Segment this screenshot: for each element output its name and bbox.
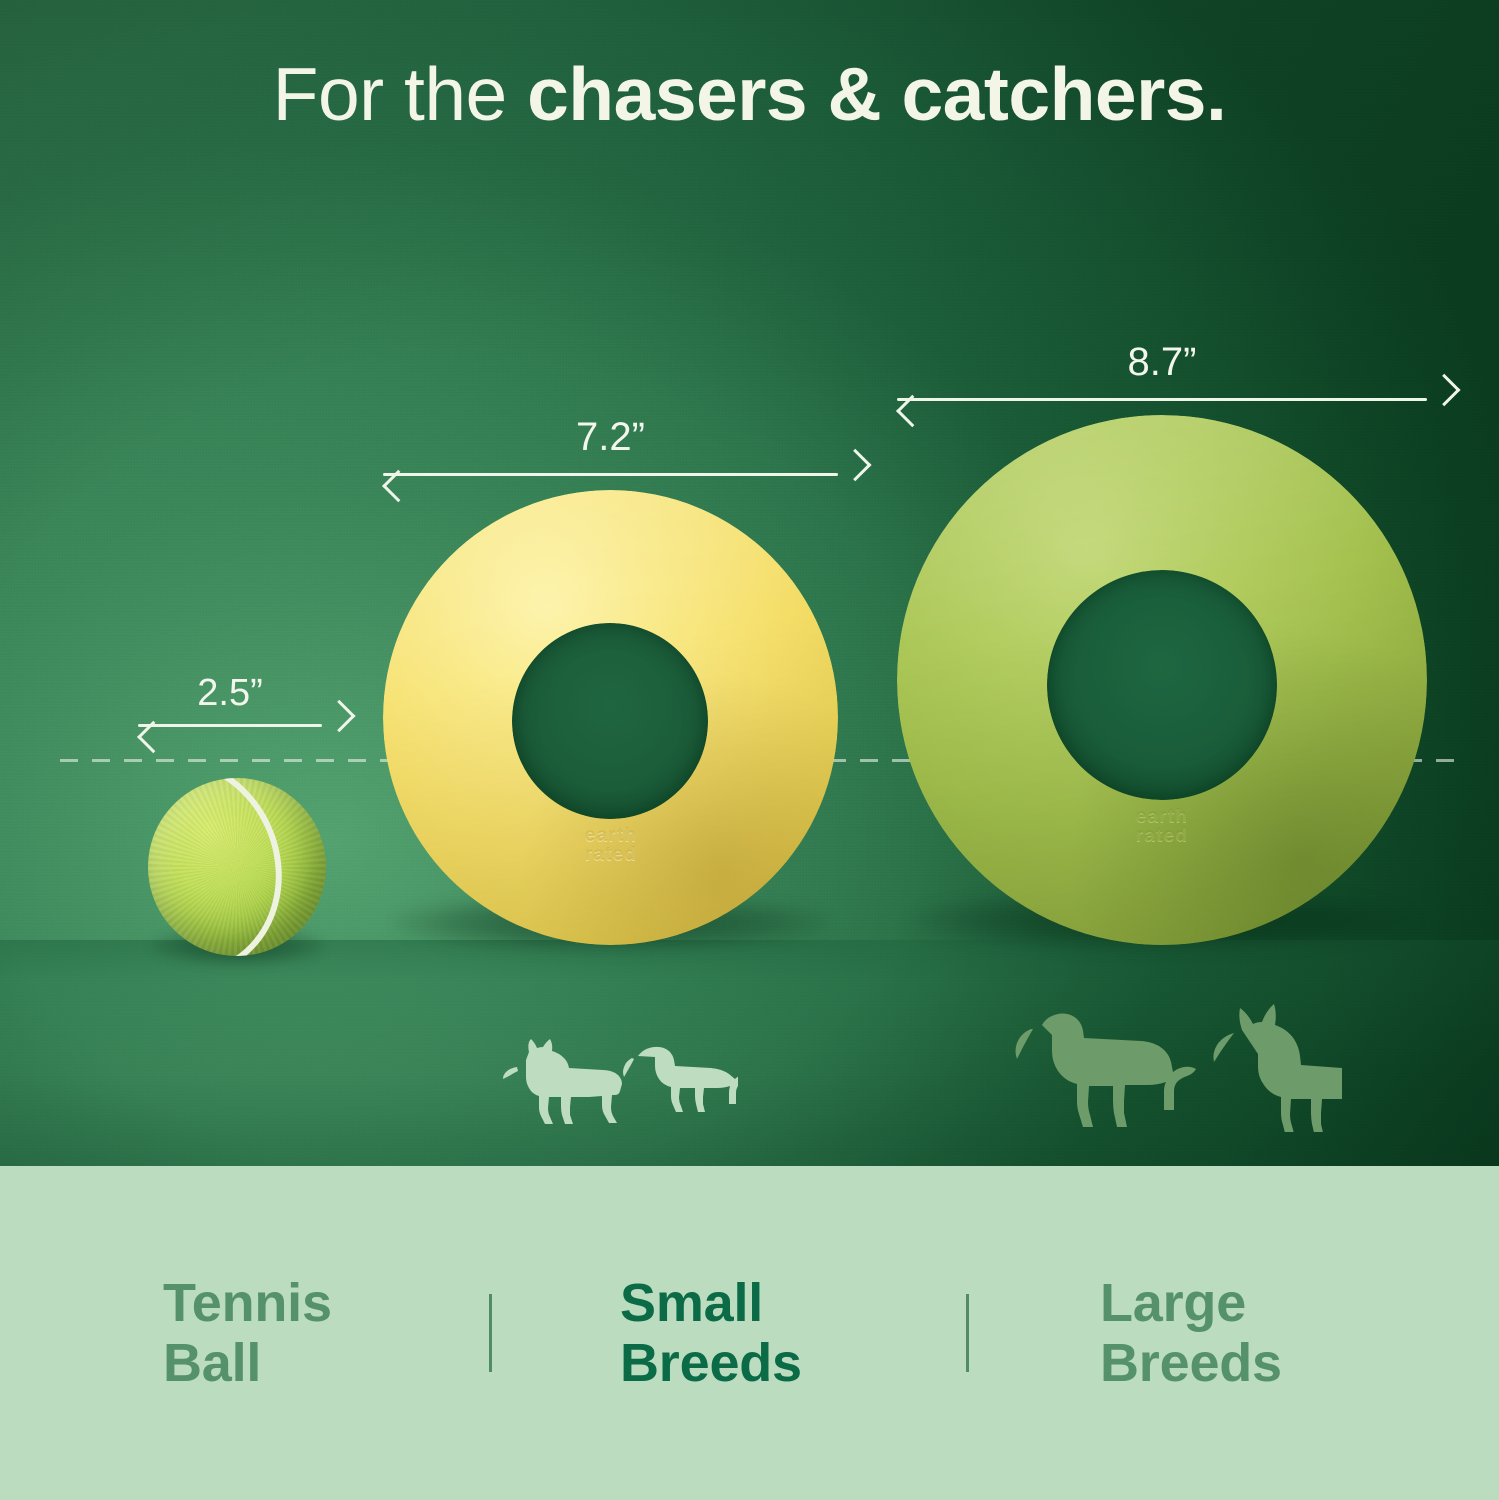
small-ring-emboss-line-2: rated (518, 845, 704, 864)
measurement-line-small-ring (383, 473, 838, 476)
caption-bar: Tennis Ball Small Breeds Large Breeds (0, 1166, 1499, 1500)
large-ring-hole (1047, 570, 1277, 800)
caption-divider-1 (489, 1294, 492, 1372)
small-ring-brand-emboss: earth rated (518, 826, 704, 865)
caption-label-large-breeds: Large Breeds (1100, 1273, 1282, 1394)
caption-column-tennis-ball: Tennis Ball (0, 1166, 470, 1500)
headline-light-text: For the (273, 52, 527, 136)
large-breed-dog-icons (1012, 1000, 1342, 1132)
small-ring-emboss-line-1: earth (518, 826, 704, 845)
small-ring-hole-shadow (512, 623, 708, 819)
caption-label-tennis-ball: Tennis Ball (163, 1273, 332, 1394)
large-ring-emboss-line-1: earth (1062, 807, 1262, 826)
measurement-label-tennis-ball: 2.5” (138, 672, 322, 715)
caption-label-small-breeds: Small Breeds (620, 1273, 802, 1394)
german-shepherd-dog-icon (1213, 1004, 1342, 1132)
page-title: For the chasers & catchers. (0, 55, 1499, 134)
product-size-comparison-poster: For the chasers & catchers. (0, 0, 1499, 1500)
measurement-label-large-ring: 8.7” (897, 340, 1427, 385)
labrador-dog-icon (1016, 1014, 1197, 1127)
small-ring-hole (512, 623, 708, 819)
tennis-ball (148, 778, 326, 956)
tennis-ball-body (148, 778, 326, 956)
small-ring-product: earth rated (383, 490, 838, 945)
small-breed-dog-icons (492, 1034, 738, 1130)
terrier-dog-icon (503, 1039, 622, 1124)
large-ring-product: earth rated (897, 415, 1427, 945)
measurement-line-large-ring (897, 398, 1427, 401)
measurement-label-small-ring: 7.2” (383, 415, 838, 460)
product-photo-stage: For the chasers & catchers. (0, 0, 1499, 1166)
caption-column-small-breeds: Small Breeds (470, 1166, 948, 1500)
caption-divider-2 (966, 1294, 969, 1372)
large-ring-brand-emboss: earth rated (1062, 807, 1262, 846)
measurement-line-tennis-ball (138, 724, 322, 727)
caption-column-large-breeds: Large Breeds (948, 1166, 1499, 1500)
large-ring-emboss-line-2: rated (1062, 826, 1262, 845)
dachshund-dog-icon (623, 1047, 738, 1112)
headline-bold-text: chasers & catchers. (527, 52, 1226, 136)
large-ring-hole-shadow (1047, 570, 1277, 800)
